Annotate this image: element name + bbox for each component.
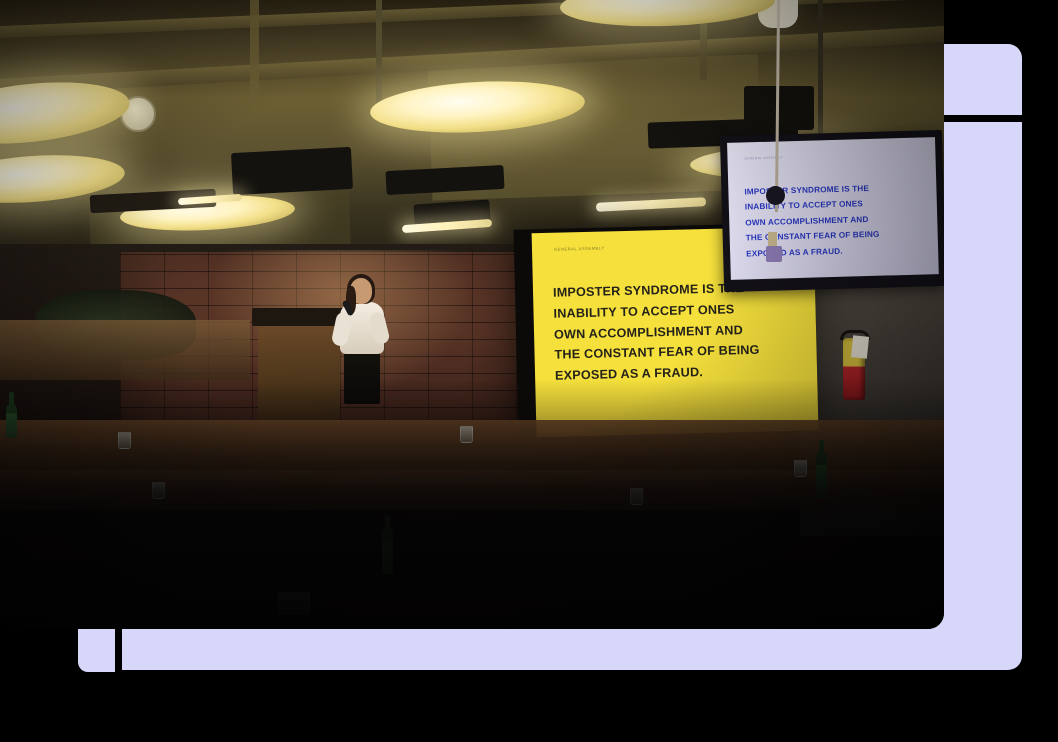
- venue-photo: GENERAL ASSEMBLY IMPOSTER SYNDROME IS TH…: [0, 0, 944, 629]
- decor-panel-notch-left: [78, 628, 115, 672]
- tv-monitor-face: GENERAL ASSEMBLY IMPOSTER SYNDROME IS TH…: [727, 137, 939, 280]
- audience: [0, 329, 944, 629]
- light-tube: [596, 197, 706, 212]
- pendant-light: [559, 0, 775, 30]
- stage-light-rig: [231, 147, 353, 195]
- hanging-cord-plug: [766, 246, 782, 262]
- projection-screen-brand: GENERAL ASSEMBLY: [554, 245, 605, 251]
- tv-monitor: GENERAL ASSEMBLY IMPOSTER SYNDROME IS TH…: [720, 130, 944, 292]
- decor-panel-notch: [115, 628, 122, 672]
- screenshot-stage: GENERAL ASSEMBLY IMPOSTER SYNDROME IS TH…: [0, 0, 1058, 742]
- hanging-pole: [818, 0, 823, 150]
- ceiling-column: [250, 0, 259, 110]
- venue-photo-inner: GENERAL ASSEMBLY IMPOSTER SYNDROME IS TH…: [0, 0, 944, 629]
- hanging-cord-ball: [766, 186, 785, 205]
